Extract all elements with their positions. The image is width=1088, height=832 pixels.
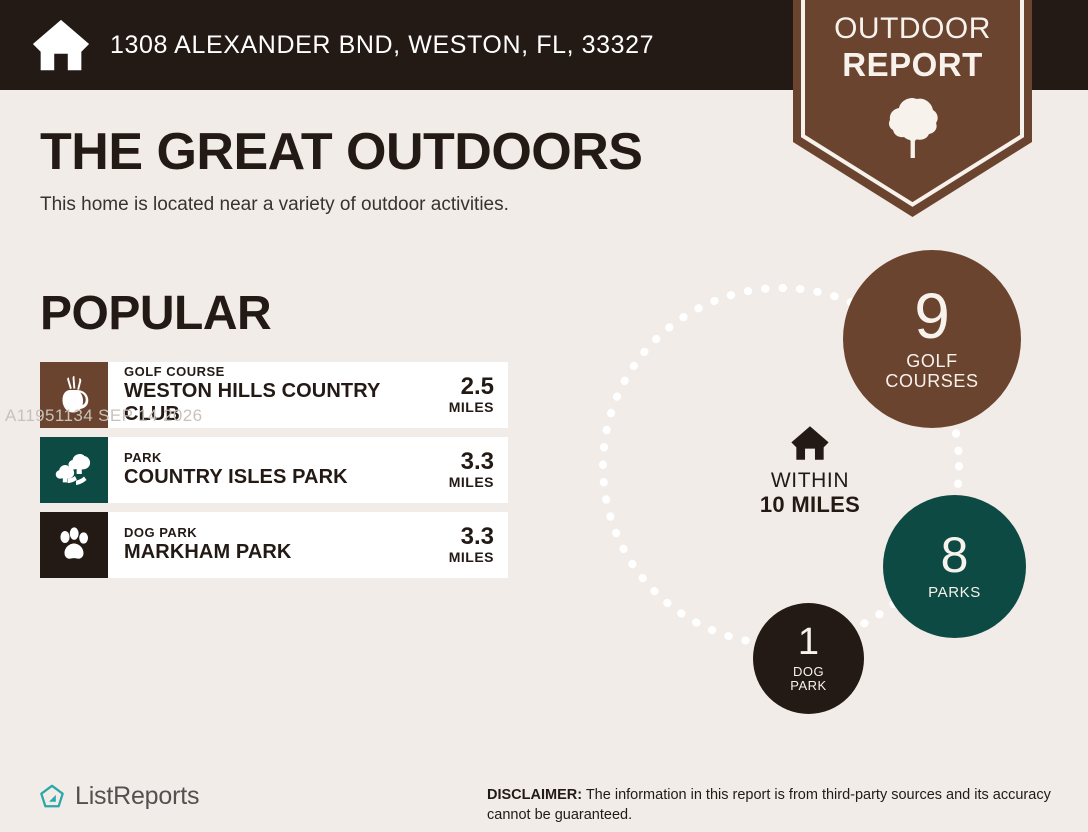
trees-icon xyxy=(54,452,94,488)
stat-label-line2: PARK xyxy=(790,679,826,693)
badge-line-report: REPORT xyxy=(793,48,1032,81)
list-item[interactable]: PARK COUNTRY ISLES PARK 3.3 MILES xyxy=(40,437,508,503)
list-item-distance: 3.3 MILES xyxy=(439,450,494,491)
mls-watermark: A11951134 SEP 14 2026 xyxy=(5,406,202,426)
list-item-category: GOLF COURSE xyxy=(124,365,439,379)
popular-list: GOLF COURSE WESTON HILLS COUNTRY CLUB 2.… xyxy=(40,362,508,587)
list-item-distance: 3.3 MILES xyxy=(439,525,494,566)
home-icon xyxy=(790,425,830,461)
list-item-name: MARKHAM PARK xyxy=(124,541,291,563)
title-block: THE GREAT OUTDOORS This home is located … xyxy=(40,125,740,216)
stat-circle-golf-courses[interactable]: 9 GOLF COURSES xyxy=(843,250,1021,428)
stat-label-line1: GOLF xyxy=(885,352,978,372)
list-item-distance: 2.5 MILES xyxy=(439,375,494,416)
paw-print-icon-tile xyxy=(40,512,108,578)
distance-unit: MILES xyxy=(449,474,494,491)
stat-circle-parks[interactable]: 8 PARKS xyxy=(883,495,1026,638)
stat-number: 1 xyxy=(798,624,819,660)
popular-heading: POPULAR xyxy=(40,286,271,341)
list-item[interactable]: DOG PARK MARKHAM PARK 3.3 MILES xyxy=(40,512,508,578)
stat-label: GOLF COURSES xyxy=(885,352,978,392)
tree-icon xyxy=(887,96,939,158)
stat-label: PARKS xyxy=(928,585,981,602)
listreports-logo-text: ListReports xyxy=(75,782,199,811)
distance-value: 2.5 xyxy=(449,375,494,399)
list-item-category: DOG PARK xyxy=(124,526,291,540)
stat-number: 8 xyxy=(941,532,969,580)
home-icon xyxy=(30,14,92,76)
center-line-distance: 10 MILES xyxy=(720,492,900,517)
list-item-names: PARK COUNTRY ISLES PARK xyxy=(124,451,348,489)
listreports-house-icon xyxy=(38,783,66,811)
distance-unit: MILES xyxy=(449,549,494,566)
stat-label-line2: COURSES xyxy=(885,372,978,392)
page-subtitle: This home is located near a variety of o… xyxy=(40,194,740,216)
stat-number: 9 xyxy=(914,286,950,347)
distance-value: 3.3 xyxy=(449,450,494,474)
outdoor-report-badge: OUTDOOR REPORT xyxy=(793,0,1032,217)
stat-label: DOG PARK xyxy=(790,665,826,694)
list-item-names: DOG PARK MARKHAM PARK xyxy=(124,526,291,564)
disclaimer-label: DISCLAIMER: xyxy=(487,787,582,803)
within-10-miles-diagram: WITHIN 10 MILES 9 GOLF COURSES 8 PARKS 1… xyxy=(560,230,1060,740)
page-title: THE GREAT OUTDOORS xyxy=(40,125,740,180)
diagram-center-label: WITHIN 10 MILES xyxy=(720,425,900,517)
badge-text: OUTDOOR REPORT xyxy=(793,14,1032,81)
badge-line-outdoor: OUTDOOR xyxy=(793,14,1032,44)
stat-circle-dog-park[interactable]: 1 DOG PARK xyxy=(753,603,864,714)
stat-label-line1: PARKS xyxy=(928,585,981,602)
listreports-logo[interactable]: ListReports xyxy=(38,782,199,811)
list-item-body: DOG PARK MARKHAM PARK 3.3 MILES xyxy=(108,512,508,578)
paw-print-icon xyxy=(55,526,93,564)
distance-unit: MILES xyxy=(449,399,494,416)
list-item-name: COUNTRY ISLES PARK xyxy=(124,466,348,488)
property-address: 1308 ALEXANDER BND, WESTON, FL, 33327 xyxy=(110,31,654,60)
list-item-category: PARK xyxy=(124,451,348,465)
list-item-body: PARK COUNTRY ISLES PARK 3.3 MILES xyxy=(108,437,508,503)
distance-value: 3.3 xyxy=(449,525,494,549)
trees-icon-tile xyxy=(40,437,108,503)
center-line-within: WITHIN xyxy=(720,469,900,492)
disclaimer: DISCLAIMER: The information in this repo… xyxy=(487,786,1067,825)
stat-label-line1: DOG xyxy=(790,665,826,679)
